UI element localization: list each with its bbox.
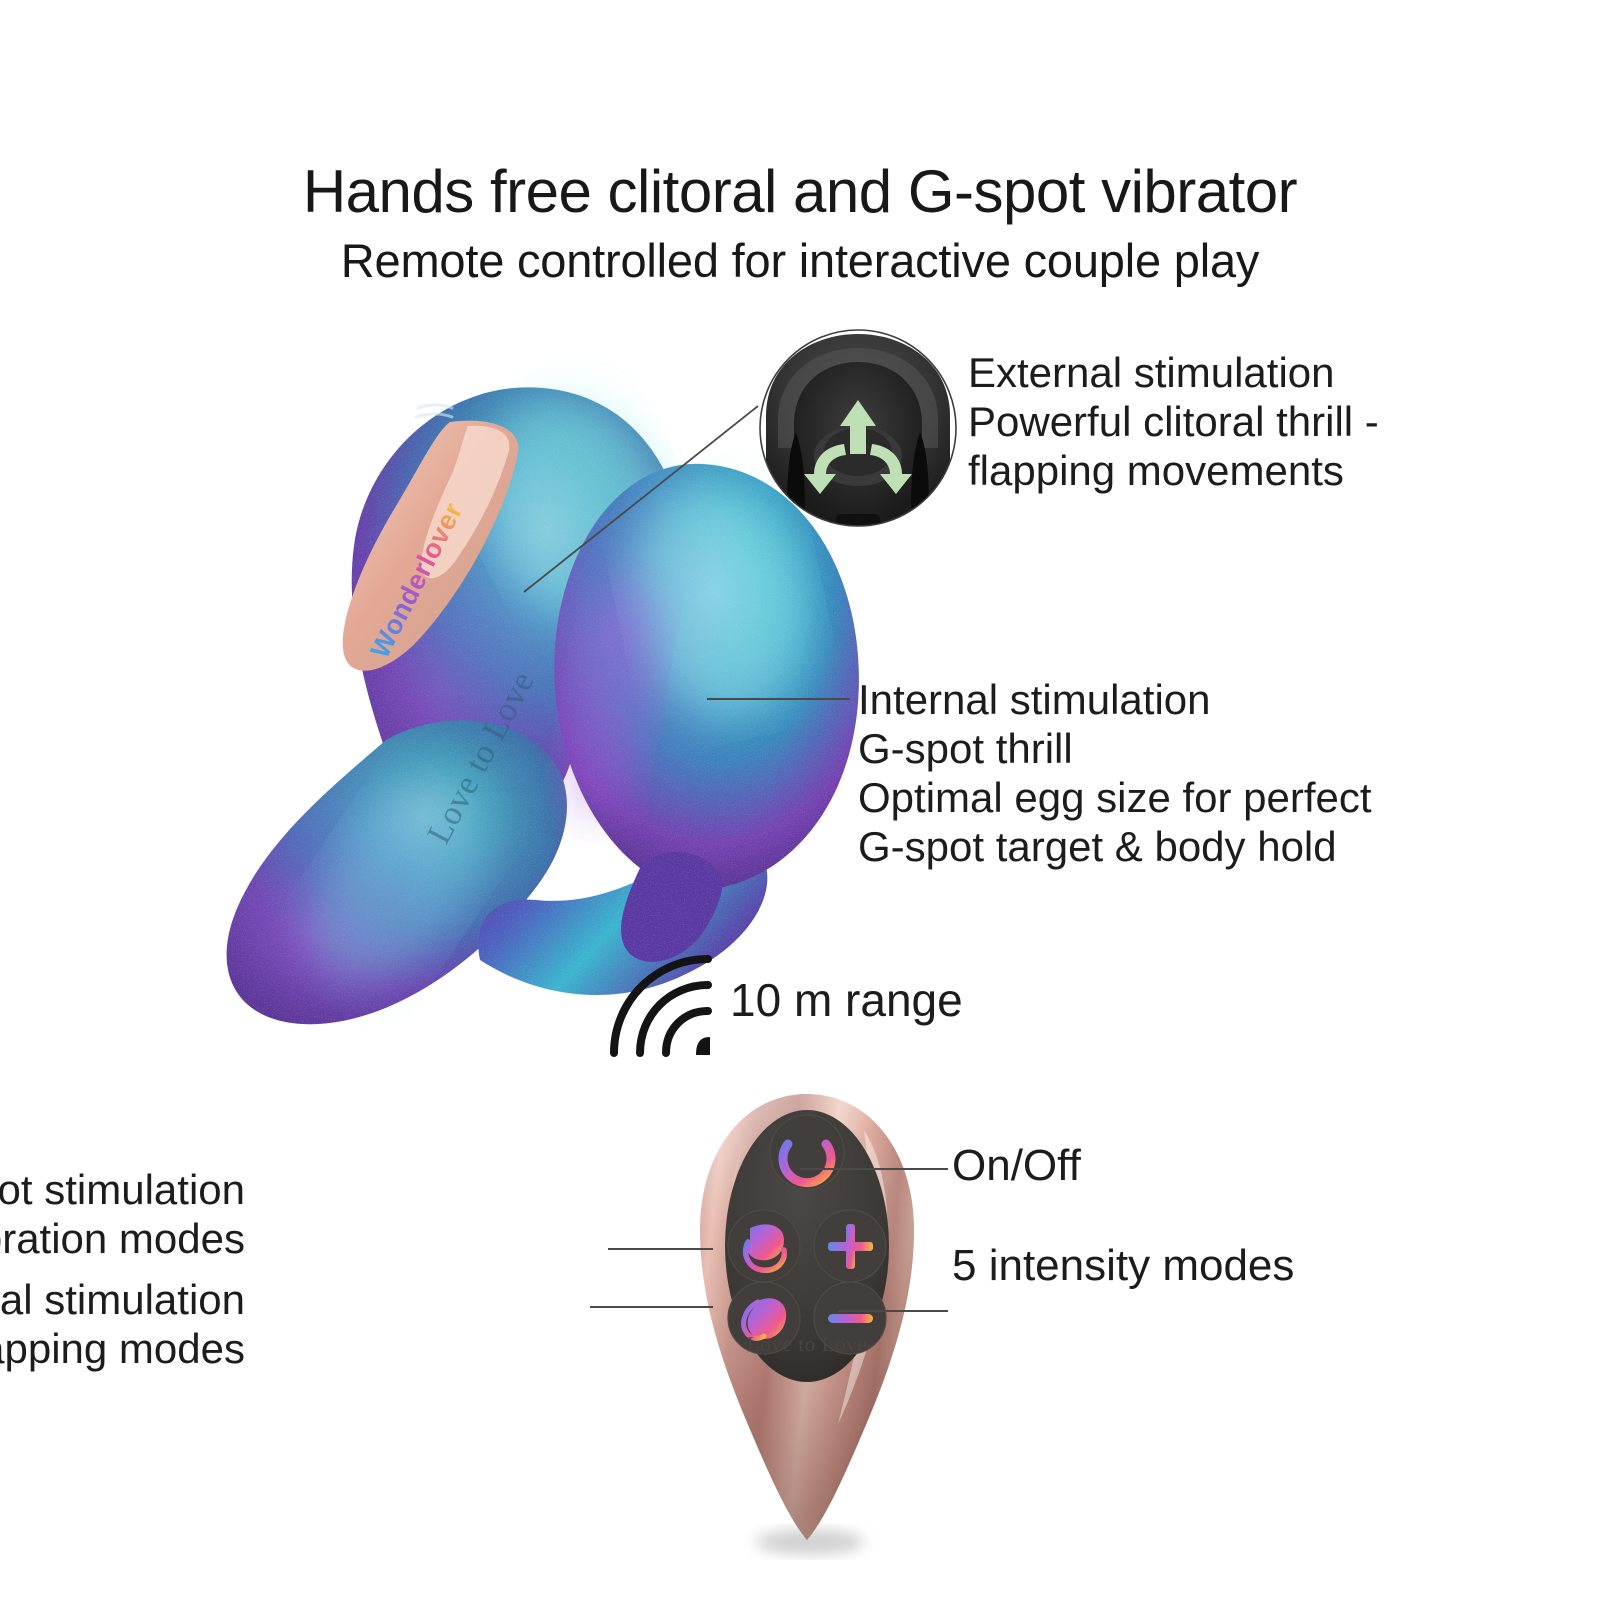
callout-clitoral-modes: Clitoral stimulation 3 flapping modes <box>0 1275 245 1373</box>
wifi-signal-icon <box>600 945 730 1063</box>
leader-line-clitoral <box>590 1306 713 1308</box>
callout-on-off-label: On/Off <box>952 1140 1081 1191</box>
page-title: Hands free clitoral and G-spot vibrator <box>0 160 1600 225</box>
gspot-mode-button[interactable] <box>728 1210 800 1282</box>
detail-circle-content <box>748 328 968 538</box>
leader-line-intensity <box>838 1310 948 1312</box>
range-badge: 10 m range <box>600 945 960 1065</box>
external-stimulation-detail-view <box>748 328 968 538</box>
callout-internal-line-1: Internal stimulation <box>858 675 1372 724</box>
callout-internal-stimulation: Internal stimulation G-spot thrill Optim… <box>858 675 1372 872</box>
page-subtitle: Remote controlled for interactive couple… <box>0 235 1600 288</box>
callout-external-line-2: Powerful clitoral thrill - <box>968 397 1379 446</box>
leader-line-gspot <box>608 1248 713 1250</box>
clitoral-mode-button[interactable] <box>728 1282 800 1354</box>
callout-internal-line-3: Optimal egg size for perfect <box>858 773 1372 822</box>
callout-gspot-modes: G-spot stimulation 3 vibration modes <box>0 1165 245 1263</box>
callout-on-off: On/Off <box>952 1140 1081 1191</box>
leader-line-external <box>500 380 780 620</box>
callout-external-line-1: External stimulation <box>968 348 1379 397</box>
callout-external-stimulation: External stimulation Powerful clitoral t… <box>968 348 1379 495</box>
callout-clitoral-line-1: Clitoral stimulation <box>0 1275 245 1324</box>
minus-button[interactable] <box>814 1282 886 1354</box>
range-label: 10 m range <box>730 973 963 1027</box>
callout-internal-line-4: G-spot target & body hold <box>858 822 1372 871</box>
leader-line-onoff <box>800 1168 948 1170</box>
power-button[interactable] <box>770 1115 844 1189</box>
callout-internal-line-2: G-spot thrill <box>858 724 1372 773</box>
callout-gspot-line-2: 3 vibration modes <box>0 1214 245 1263</box>
callout-intensity-label: 5 intensity modes <box>952 1240 1294 1291</box>
minus-icon <box>828 1314 873 1323</box>
remote-control-illustration <box>688 1090 926 1560</box>
infographic-canvas: Hands free clitoral and G-spot vibrator … <box>0 0 1600 1600</box>
callout-clitoral-line-2: 3 flapping modes <box>0 1324 245 1373</box>
leader-line-internal <box>707 698 850 700</box>
callout-gspot-line-1: G-spot stimulation <box>0 1165 245 1214</box>
callout-external-line-3: flapping movements <box>968 446 1379 495</box>
plus-button[interactable] <box>814 1210 886 1282</box>
callout-intensity-modes: 5 intensity modes <box>952 1240 1294 1291</box>
heading-block: Hands free clitoral and G-spot vibrator … <box>0 160 1600 287</box>
